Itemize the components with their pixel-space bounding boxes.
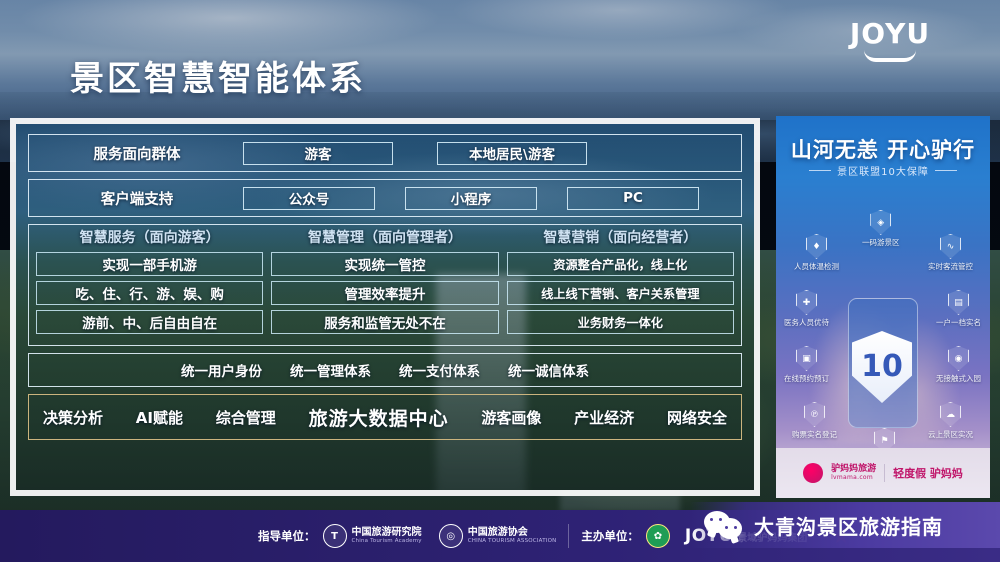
shield-icon: ✚: [796, 290, 817, 315]
pill-local-resident[interactable]: 本地居民\游客: [437, 142, 587, 165]
ad-badge-9: ☁ 云上景区实况: [928, 402, 973, 440]
wechat-dot: [725, 526, 728, 529]
guidance-org-1-name: 中国旅游研究院 China Tourism Academy: [352, 527, 422, 544]
wechat-dot: [719, 518, 722, 521]
wechat-dot: [710, 518, 713, 521]
ad-badge-5: ▤ 一户一档实名: [936, 290, 981, 328]
ad-badge-7-label: 无接触式入园: [936, 373, 981, 384]
row-client-support: 客户端支持 公众号 小程序 PC: [28, 179, 742, 217]
shield-icon: ☁: [940, 402, 961, 427]
china-tourism-association-icon: ◎: [439, 524, 463, 548]
row-service-groups-label: 服务面向群体: [37, 143, 237, 164]
column-smart-marketing-item-2[interactable]: 线上线下营销、客户关系管理: [507, 281, 734, 305]
pill-official-account-label: 公众号: [289, 188, 330, 208]
wechat-account-strip[interactable]: 大青沟景区旅游指南: [690, 502, 1000, 548]
diagram-inner: 服务面向群体 游客 本地居民\游客 客户端支持 公众号 小程序: [16, 124, 754, 490]
platform-item-big-data-center: 旅游大数据中心: [309, 404, 449, 431]
column-smart-marketing-head: 智慧营销（面向经营者）: [507, 229, 734, 247]
ad-badge-7: ◉ 无接触式入园: [936, 346, 981, 384]
ad-badge-5-label: 一户一档实名: [936, 317, 981, 328]
shield-icon: ▣: [796, 346, 817, 371]
pill-mini-program[interactable]: 小程序: [405, 187, 537, 210]
pill-mini-program-label: 小程序: [451, 188, 492, 208]
china-tourism-academy-icon: T: [323, 524, 347, 548]
slide-stage: JOYU 景区智慧智能体系 服务面向群体 游客 本地居民\游客: [0, 0, 1000, 562]
ad-title: 山河无恙 开心驴行: [776, 134, 990, 164]
pill-tourist[interactable]: 游客: [243, 142, 393, 165]
ad-subtitle: 景区联盟10大保障: [776, 163, 990, 178]
ad-footer-divider: [884, 464, 885, 482]
footer-divider: [568, 524, 569, 548]
unified-item-management: 统一管理体系: [290, 360, 371, 380]
column-smart-management-item-2-label: 管理效率提升: [344, 283, 425, 303]
wechat-icon: [704, 509, 744, 541]
unified-item-credit: 统一诚信体系: [508, 360, 589, 380]
platform-item-ai-empowerment: AI赋能: [136, 407, 183, 428]
column-smart-marketing-item-1-label: 资源整合产品化，线上化: [553, 255, 687, 273]
shield-icon: ◉: [948, 346, 969, 371]
column-smart-management-item-3-label: 服务和监管无处不在: [324, 312, 446, 332]
guidance-org-2-name: 中国旅游协会 CHINA TOURISM ASSOCIATION: [468, 527, 557, 544]
page-title: 景区智慧智能体系: [70, 62, 366, 96]
column-smart-marketing: 智慧营销（面向经营者） 资源整合产品化，线上化 线上线下营销、客户关系管理 业务…: [507, 229, 734, 341]
column-smart-service-item-2-label: 吃、住、行、游、娱、购: [75, 283, 224, 303]
pill-pc-label: PC: [623, 190, 643, 206]
row-three-domains: 智慧服务（面向游客） 实现一部手机游 吃、住、行、游、娱、购 游前、中、后自由自…: [28, 224, 742, 346]
column-smart-management-item-1-label: 实现统一管控: [344, 254, 425, 274]
joyu-smile-icon: [864, 50, 916, 62]
pill-official-account[interactable]: 公众号: [243, 187, 375, 210]
ad-badge-6-label: 在线预约预订: [784, 373, 829, 384]
ad-badge-4-label: 医务人员优待: [784, 317, 829, 328]
platform-item-industrial-economy: 产业经济: [574, 407, 634, 428]
wechat-account-name: 大青沟景区旅游指南: [754, 511, 943, 540]
wechat-bubble-small: [718, 518, 742, 539]
guidance-org-2: ◎ 中国旅游协会 CHINA TOURISM ASSOCIATION: [439, 524, 557, 548]
unified-item-payment: 统一支付体系: [399, 360, 480, 380]
pill-pc[interactable]: PC: [567, 187, 699, 210]
ad-badge-4: ✚ 医务人员优待: [784, 290, 829, 328]
diagram-frame: 服务面向群体 游客 本地居民\游客 客户端支持 公众号 小程序: [10, 118, 760, 496]
ad-badge-8-label: 购票实名登记: [792, 429, 837, 440]
guidance-group: 指导单位： T 中国旅游研究院 China Tourism Academy ◎ …: [258, 524, 556, 548]
guidance-org-2-en: CHINA TOURISM ASSOCIATION: [468, 538, 557, 544]
shield-icon: ▤: [948, 290, 969, 315]
shield-icon: ∿: [940, 234, 961, 259]
platform-item-decision-analysis: 决策分析: [43, 407, 103, 428]
host-org-emblem-icon: ✿: [646, 524, 670, 548]
advertisement-panel[interactable]: 山河无恙 开心驴行 景区联盟10大保障 ♦ 人员体温检测 ◈ 一码游景区 ∿ 实…: [776, 116, 990, 498]
column-smart-management-head: 智慧管理（面向管理者）: [271, 229, 498, 247]
ad-badge-2-label: 一码游景区: [862, 237, 900, 248]
diagram-layers: 服务面向群体 游客 本地居民\游客 客户端支持 公众号 小程序: [16, 124, 754, 490]
column-smart-marketing-item-3[interactable]: 业务财务一体化: [507, 310, 734, 334]
column-smart-management-item-2[interactable]: 管理效率提升: [271, 281, 498, 305]
row-client-support-label: 客户端支持: [37, 188, 237, 209]
column-smart-management-item-3[interactable]: 服务和监管无处不在: [271, 310, 498, 334]
column-smart-marketing-item-2-label: 线上线下营销、客户关系管理: [541, 284, 699, 302]
column-smart-service-item-3[interactable]: 游前、中、后自由自在: [36, 310, 263, 334]
ad-footer-slogan: 轻度假 驴妈妈: [893, 465, 963, 481]
platform-item-tourist-profile: 游客画像: [481, 407, 541, 428]
row-unified-systems: 统一用户身份 统一管理体系 统一支付体系 统一诚信体系: [28, 353, 742, 387]
shield-icon: ◈: [870, 210, 891, 235]
guidance-org-1-cn: 中国旅游研究院: [352, 527, 422, 538]
ad-badge-3: ∿ 实时客流管控: [928, 234, 973, 272]
column-smart-management: 智慧管理（面向管理者） 实现统一管控 管理效率提升 服务和监管无处不在: [271, 229, 498, 341]
row-platform-capabilities: 决策分析 AI赋能 综合管理 旅游大数据中心 游客画像 产业经济 网络安全: [28, 394, 742, 440]
ad-badge-2: ◈ 一码游景区: [862, 210, 900, 248]
pill-tourist-label: 游客: [305, 143, 332, 163]
guidance-org-1: T 中国旅游研究院 China Tourism Academy: [323, 524, 422, 548]
wechat-dot: [734, 526, 737, 529]
ad-badge-6: ▣ 在线预约预订: [784, 346, 829, 384]
guidance-org-2-cn: 中国旅游协会: [468, 527, 557, 538]
column-smart-management-item-1[interactable]: 实现统一管控: [271, 252, 498, 276]
column-smart-service: 智慧服务（面向游客） 实现一部手机游 吃、住、行、游、娱、购 游前、中、后自由自…: [36, 229, 263, 341]
ad-rule-right: [935, 170, 957, 171]
ad-badge-9-label: 云上景区实况: [928, 429, 973, 440]
joyu-logo-text: JOYU: [850, 20, 930, 48]
ad-shield-number: 10: [861, 352, 903, 382]
guidance-org-1-en: China Tourism Academy: [352, 538, 422, 544]
joyu-logo: JOYU: [842, 20, 938, 62]
host-label: 主办单位：: [581, 528, 639, 544]
platform-item-integrated-management: 综合管理: [216, 407, 276, 428]
pill-local-resident-label: 本地居民\游客: [469, 143, 555, 163]
ad-badge-3-label: 实时客流管控: [928, 261, 973, 272]
ad-rule-left: [809, 170, 831, 171]
ad-subtitle-text: 景区联盟10大保障: [837, 163, 929, 178]
ad-badge-1: ♦ 人员体温检测: [794, 234, 839, 272]
column-smart-service-item-3-label: 游前、中、后自由自在: [82, 312, 217, 332]
column-smart-service-item-2[interactable]: 吃、住、行、游、娱、购: [36, 281, 263, 305]
ad-badge-8: ℗ 购票实名登记: [792, 402, 837, 440]
guidance-label: 指导单位：: [258, 528, 316, 544]
lvmama-logo-icon: [803, 463, 823, 483]
shield-icon: ℗: [804, 402, 825, 427]
ad-footer: 驴妈妈旅游 lvmama.com 轻度假 驴妈妈: [776, 448, 990, 498]
column-smart-marketing-item-1[interactable]: 资源整合产品化，线上化: [507, 252, 734, 276]
ad-badge-1-label: 人员体温检测: [794, 261, 839, 272]
lvmama-brand: 驴妈妈旅游 lvmama.com: [831, 465, 876, 481]
shield-icon: ♦: [806, 234, 827, 259]
column-smart-service-item-1-label: 实现一部手机游: [102, 254, 197, 274]
column-smart-service-item-1[interactable]: 实现一部手机游: [36, 252, 263, 276]
unified-item-identity: 统一用户身份: [181, 360, 262, 380]
platform-item-network-security: 网络安全: [667, 407, 727, 428]
row-service-groups: 服务面向群体 游客 本地居民\游客: [28, 134, 742, 172]
lvmama-brand-en: lvmama.com: [831, 475, 876, 481]
column-smart-marketing-item-3-label: 业务财务一体化: [578, 313, 663, 331]
column-smart-service-head: 智慧服务（面向游客）: [36, 229, 263, 247]
